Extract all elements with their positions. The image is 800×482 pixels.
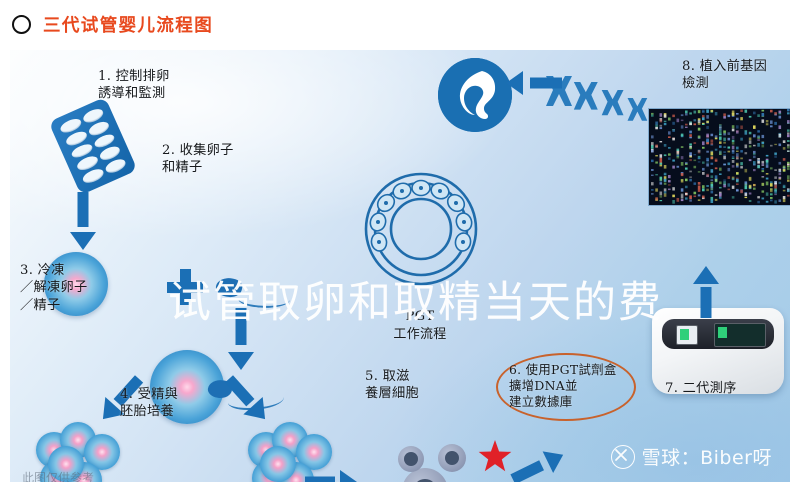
corner-watermark-text: 雪球：Biber呀 — [642, 443, 772, 470]
trophectoderm-cell-icon — [438, 444, 466, 472]
arrow-down-icon — [64, 192, 102, 250]
step-2-label: 2. 收集卵子 和精子 — [162, 142, 234, 177]
pgt-workflow-label: PGT 工作流程 — [365, 308, 475, 343]
step-4-label: 4. 受精與 胚胎培養 — [120, 386, 178, 421]
fetus-badge-icon — [438, 58, 512, 132]
step-6-label: 6. 使用PGT試劑盒 擴增DNA並 建立數據庫 — [509, 362, 617, 410]
step-7-label: 7. 二代測序 — [665, 380, 737, 397]
ivf-process-diagram: 1. 控制排卵 誘導和監測 3. 冷凍 ／解凍卵子 ／精子 2. 收集卵子 和精… — [10, 50, 790, 482]
trophectoderm-cell-icon — [398, 446, 424, 472]
arrow-up-icon — [686, 266, 726, 318]
pill-blister-pack-icon — [48, 97, 137, 195]
arrow-left-icon — [506, 68, 562, 98]
page-title: 三代试管婴儿流程图 — [43, 12, 213, 37]
step-8-label: 8. 植入前基因 檢測 — [682, 58, 767, 93]
arrow-right-up-icon — [506, 441, 569, 482]
arrow-right-icon — [305, 468, 357, 482]
bottom-clipped-text: 此图仅供参考 — [22, 469, 94, 482]
screenshot-root: 三代试管婴儿流程图 1. 控制排卵 誘導和監測 3. 冷凍 ／解凍卵子 ／精子 … — [0, 0, 800, 482]
arrow-down-icon — [222, 308, 260, 370]
plus-sign-icon — [167, 269, 203, 305]
xueqiu-logo-icon — [611, 445, 635, 469]
blastocyst-icon — [362, 170, 480, 288]
corner-watermark: 雪球：Biber呀 — [611, 443, 772, 470]
step-3-label: 3. 冷凍 ／解凍卵子 ／精子 — [20, 262, 87, 314]
dna-sequencing-panel-icon — [648, 108, 790, 206]
circle-outline-icon — [12, 15, 31, 34]
step-1-label: 1. 控制排卵 誘導和監測 — [98, 68, 170, 103]
step-5-label: 5. 取滋 養層細胞 — [365, 368, 419, 403]
sperm-tail-icon — [237, 288, 290, 310]
page-header: 三代试管婴儿流程图 — [0, 0, 800, 48]
